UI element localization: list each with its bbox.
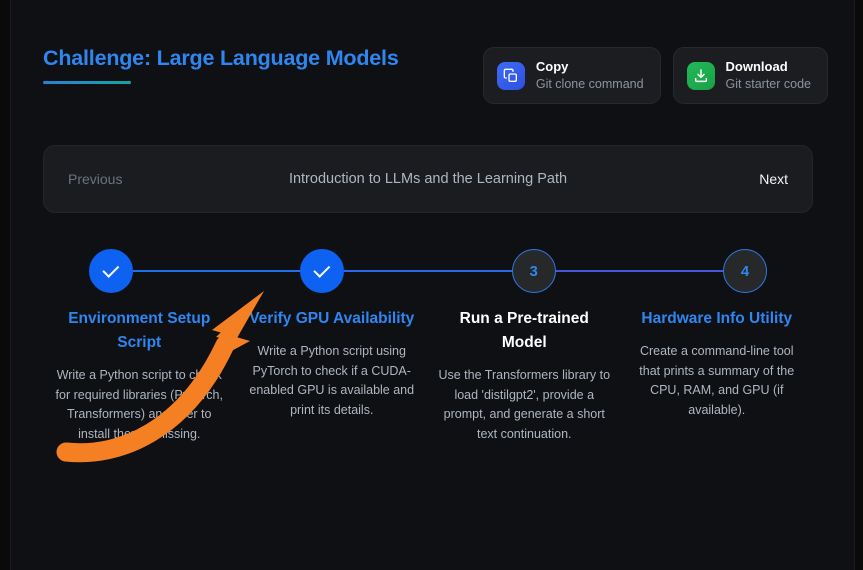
download-button-title: Download bbox=[726, 59, 811, 75]
lesson-navigation-bar: Previous Introduction to LLMs and the Le… bbox=[43, 145, 813, 213]
download-button-subtitle: Git starter code bbox=[726, 76, 811, 92]
copy-icon bbox=[497, 62, 525, 90]
current-lesson-title: Introduction to LLMs and the Learning Pa… bbox=[188, 171, 668, 187]
step-4-description: Create a command-line tool that prints a… bbox=[629, 342, 806, 420]
step-4-title: Hardware Info Utility bbox=[629, 307, 806, 331]
step-3-number: 3 bbox=[529, 264, 537, 279]
copy-button-title: Copy bbox=[536, 59, 644, 75]
previous-button[interactable]: Previous bbox=[68, 171, 188, 187]
copy-button-subtitle: Git clone command bbox=[536, 76, 644, 92]
connector-2-3 bbox=[344, 270, 511, 273]
check-icon bbox=[102, 260, 119, 277]
step-2-description: Write a Python script using PyTorch to c… bbox=[244, 342, 421, 420]
next-button[interactable]: Next bbox=[668, 171, 788, 187]
step-4-number: 4 bbox=[741, 264, 749, 279]
step-1-column[interactable]: Environment Setup Script Write a Python … bbox=[43, 307, 236, 444]
page-container: Challenge: Large Language Models Copy Gi… bbox=[10, 0, 855, 570]
challenge-stepper: 3 4 Environment Setup Script Write a Pyt… bbox=[43, 245, 813, 505]
step-3-column[interactable]: Run a Pre-trained Model Use the Transfor… bbox=[428, 307, 621, 444]
title-underline-accent bbox=[43, 81, 131, 84]
step-1-node[interactable] bbox=[89, 249, 133, 293]
title-block: Challenge: Large Language Models bbox=[43, 44, 399, 84]
step-4-column[interactable]: Hardware Info Utility Create a command-l… bbox=[621, 307, 814, 444]
step-2-node[interactable] bbox=[300, 249, 344, 293]
step-2-title: Verify GPU Availability bbox=[244, 307, 421, 331]
step-2-column[interactable]: Verify GPU Availability Write a Python s… bbox=[236, 307, 429, 444]
check-icon bbox=[313, 260, 330, 277]
step-4-node[interactable]: 4 bbox=[723, 249, 767, 293]
connector-3-4 bbox=[556, 270, 723, 273]
stepper-labels: Environment Setup Script Write a Python … bbox=[43, 307, 813, 444]
download-icon bbox=[687, 62, 715, 90]
stepper-track: 3 4 bbox=[43, 245, 813, 297]
copy-git-clone-button[interactable]: Copy Git clone command bbox=[483, 47, 661, 104]
step-1-title: Environment Setup Script bbox=[51, 307, 228, 355]
download-starter-code-button[interactable]: Download Git starter code bbox=[673, 47, 828, 104]
step-1-description: Write a Python script to check for requi… bbox=[51, 366, 228, 444]
download-button-text: Download Git starter code bbox=[726, 59, 811, 92]
header-actions: Copy Git clone command Download Git star… bbox=[483, 47, 828, 104]
step-3-node[interactable]: 3 bbox=[512, 249, 556, 293]
page-title: Challenge: Large Language Models bbox=[43, 44, 399, 72]
connector-1-2 bbox=[133, 270, 300, 273]
step-3-title: Run a Pre-trained Model bbox=[436, 307, 613, 355]
step-3-description: Use the Transformers library to load 'di… bbox=[436, 366, 613, 444]
copy-button-text: Copy Git clone command bbox=[536, 59, 644, 92]
page-header: Challenge: Large Language Models Copy Gi… bbox=[43, 44, 828, 108]
